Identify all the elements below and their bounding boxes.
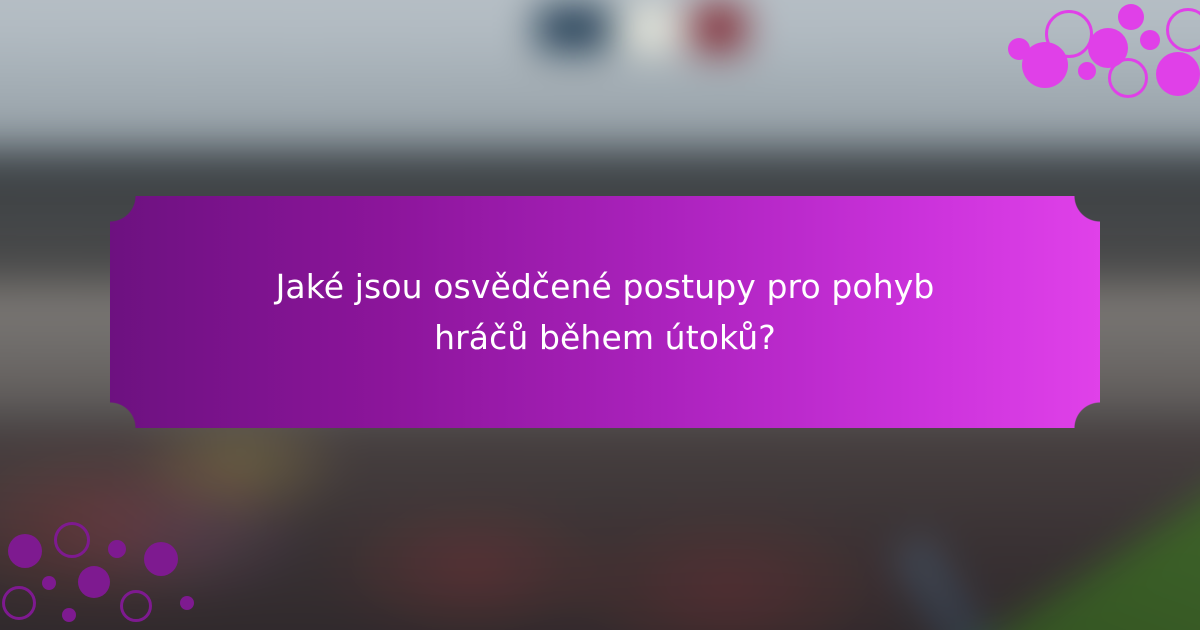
decor-circle [1078,62,1096,80]
stand-rim-banner-blue [536,4,610,51]
social-share-card: Jaké jsou osvědčené postupy pro pohyb hr… [0,0,1200,630]
decor-circle [144,542,178,576]
stand-rim-banner-red [693,4,744,51]
question-banner: Jaké jsou osvědčené postupy pro pohyb hr… [110,196,1100,428]
headline-text: Jaké jsou osvědčené postupy pro pohyb hr… [245,261,965,363]
decor-circle [2,586,36,620]
decor-circle [42,576,56,590]
decor-circle [8,534,42,568]
stand-rim-banner-white [621,11,682,49]
decor-circle [120,590,152,622]
decor-circle [62,608,76,622]
decor-circles-bottom-left [0,510,220,630]
decor-circle [108,540,126,558]
decor-circle [78,566,110,598]
decor-circle [1108,58,1148,98]
decor-circle [180,596,194,610]
decor-circle [1156,52,1200,96]
decor-circle [1022,42,1068,88]
decor-circle [1166,8,1200,52]
decor-circle [54,522,90,558]
decor-circle [1118,4,1144,30]
decor-circle [1140,30,1160,50]
decor-circles-top-right [990,0,1200,115]
